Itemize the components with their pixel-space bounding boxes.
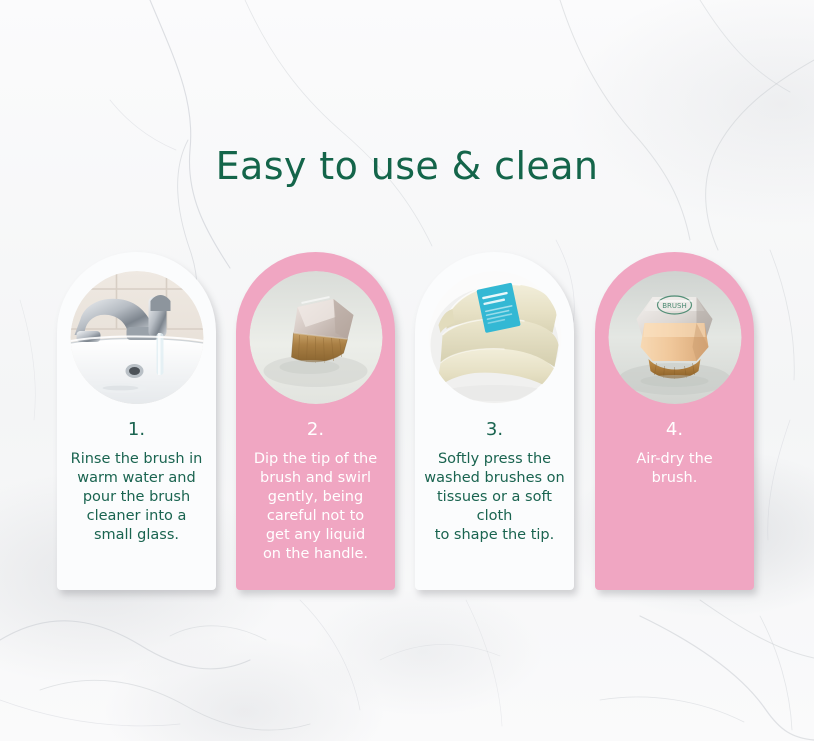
- steps-card-row: 1. Rinse the brush in warm water and pou…: [0, 0, 814, 741]
- makeup-brush-tilted-photo: [249, 271, 382, 404]
- step-card-2[interactable]: 2. Dip the tip of the brush and swirl ge…: [236, 252, 395, 590]
- step-card-1[interactable]: 1. Rinse the brush in warm water and pou…: [57, 252, 216, 590]
- step-description: Air-dry the brush.: [600, 450, 749, 488]
- folded-cream-cloth-with-teal-label-photo: [428, 271, 561, 404]
- step-description: Dip the tip of the brush and swirl gentl…: [241, 450, 390, 564]
- step-description: Rinse the brush in warm water and pour t…: [62, 450, 211, 545]
- brush-standing-upright-photo: BRUSH: [608, 271, 741, 404]
- svg-text:BRUSH: BRUSH: [662, 302, 687, 310]
- step-number: 1.: [57, 419, 216, 440]
- step-card-3[interactable]: 3. Softly press the washed brushes on ti…: [415, 252, 574, 590]
- step-description: Softly press the washed brushes on tissu…: [420, 450, 569, 545]
- step-number: 4.: [595, 419, 754, 440]
- step-number: 2.: [236, 419, 395, 440]
- step-number: 3.: [415, 419, 574, 440]
- step-card-4[interactable]: BRUSH 4. Air-dry the brush.: [595, 252, 754, 590]
- bathroom-faucet-running-water-photo: [70, 271, 203, 404]
